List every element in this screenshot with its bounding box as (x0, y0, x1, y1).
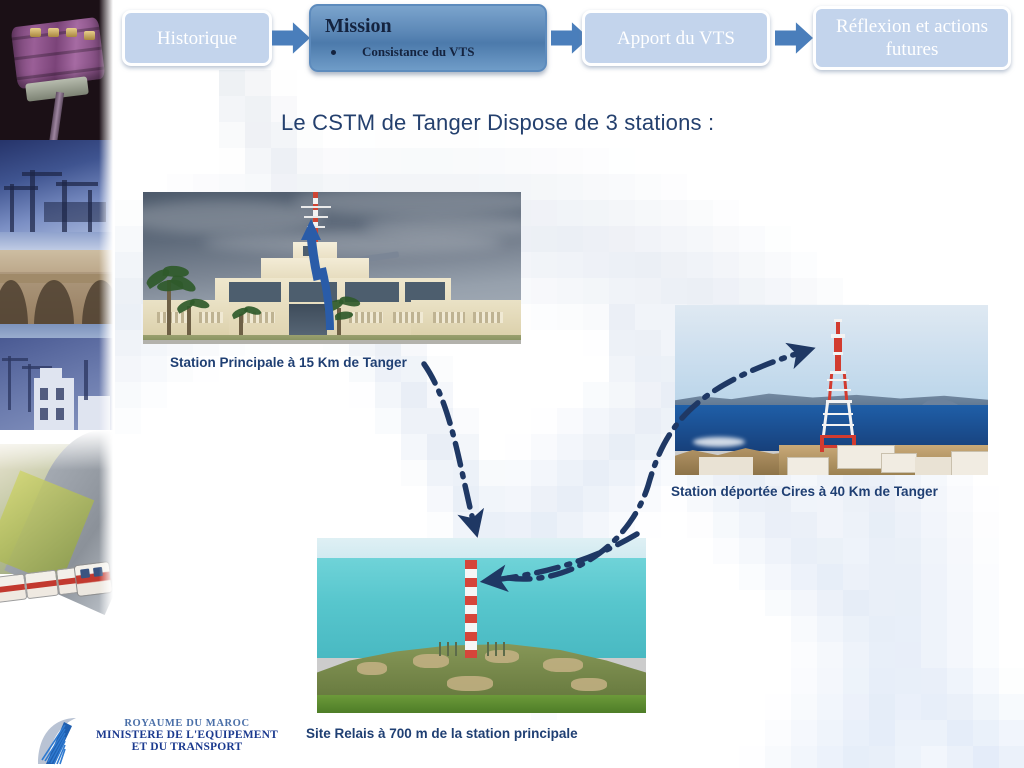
top-navigation: Historique Mission Consistance du VTS Ap… (0, 0, 1024, 80)
ministry-line-1: ROYAUME DU MAROC (74, 718, 300, 729)
caption-station-cires: Station déportée Cires à 40 Km de Tanger (671, 484, 938, 499)
slide-canvas: Historique Mission Consistance du VTS Ap… (0, 0, 1024, 768)
caption-site-relais: Site Relais à 700 m de la station princi… (306, 726, 578, 741)
footer-ministry: ROYAUME DU MAROC MINISTERE DE L'EQUIPEME… (18, 716, 298, 768)
nav-item-mission[interactable]: Mission Consistance du VTS (309, 4, 547, 72)
strip-photo-road-train (0, 430, 113, 660)
right-arrow-icon-1 (272, 21, 310, 55)
photo-station-cires (675, 305, 988, 475)
page-title: Le CSTM de Tanger Dispose de 3 stations … (281, 110, 714, 136)
nav-label-historique: Historique (157, 27, 237, 50)
caption-station-principale: Station Principale à 15 Km de Tanger (170, 355, 407, 370)
bullet-icon (331, 50, 336, 55)
nav-label-mission: Mission (325, 14, 533, 38)
photo-site-relais (317, 538, 646, 713)
nav-label-reflexion: Réflexion et actions futures (816, 15, 1008, 61)
strip-photo-stone-bridge (0, 250, 113, 346)
ministry-line-3: ET DU TRANSPORT (74, 741, 300, 753)
ministry-line-2: MINISTERE DE L'EQUIPEMENT (74, 729, 300, 741)
nav-item-reflexion[interactable]: Réflexion et actions futures (813, 6, 1011, 70)
nav-item-apport[interactable]: Apport du VTS (582, 10, 770, 66)
nav-item-historique[interactable]: Historique (122, 10, 272, 66)
nav-label-apport: Apport du VTS (617, 27, 735, 50)
nav-sub-mission: Consistance du VTS (325, 44, 533, 60)
right-arrow-icon-3 (775, 21, 813, 55)
nav-sub-label-mission: Consistance du VTS (362, 44, 474, 60)
strip-photo-port-night (0, 140, 113, 258)
lattice-tower-icon (815, 319, 861, 451)
sidebar-photo-strip (0, 0, 113, 768)
relay-mast-icon (465, 560, 477, 658)
photo-station-principale (143, 192, 521, 344)
connector-main-to-relay (424, 364, 474, 524)
ministry-text-block: ROYAUME DU MAROC MINISTERE DE L'EQUIPEME… (74, 718, 300, 753)
